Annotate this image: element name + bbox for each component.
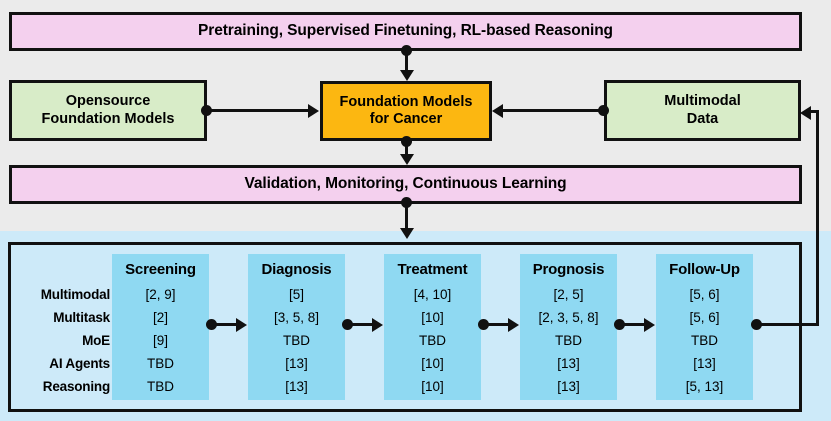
feedback-line-horizontal-upper [810,110,819,113]
cell-diagnosis-multitask: [3, 5, 8] [248,310,345,325]
row-label-ai-agents: AI Agents [0,356,110,371]
cell-prognosis-multitask: [2, 3, 5, 8] [514,310,623,325]
cell-followup-moe: TBD [656,333,753,348]
diagram-canvas: Pretraining, Supervised Finetuning, RL-b… [0,0,831,421]
connector-line-screening-to-diagnosis [212,323,238,326]
core-label-line2: for Cancer [340,111,473,128]
cell-screening-moe: [9] [112,333,209,348]
multimodal-data-box: Multimodal Data [604,80,801,141]
connector-line-rightsource-to-core [502,109,602,112]
multimodal-label-line2: Data [664,111,741,128]
opensource-label-line1: Opensource [42,93,175,110]
column-header-screening: Screening [112,261,209,278]
feedback-line-horizontal-lower [757,323,819,326]
opensource-label-line2: Foundation Models [42,111,175,128]
row-label-moe: MoE [0,333,110,348]
cell-followup-ai-agents: [13] [656,356,753,371]
row-label-multimodal: Multimodal [0,287,110,302]
connector-line-prognosis-to-followup [620,323,646,326]
cell-prognosis-moe: TBD [520,333,617,348]
feedback-line-vertical [816,110,819,326]
column-header-followup: Follow-Up [656,261,753,278]
arrowhead-into-midband [400,154,414,165]
column-header-treatment: Treatment [384,261,481,278]
cell-screening-multitask: [2] [112,310,209,325]
connector-line-treatment-to-prognosis [484,323,510,326]
cell-followup-multimodal: [5, 6] [656,287,753,302]
cell-screening-ai-agents: TBD [112,356,209,371]
arrowhead-into-matrix [400,228,414,239]
row-label-multitask: Multitask [0,310,110,325]
cell-diagnosis-moe: TBD [248,333,345,348]
cell-diagnosis-ai-agents: [13] [248,356,345,371]
cell-diagnosis-reasoning: [13] [248,379,345,394]
cell-treatment-moe: TBD [384,333,481,348]
cell-treatment-reasoning: [10] [384,379,481,394]
opensource-foundation-models-box: Opensource Foundation Models [9,80,207,141]
column-header-prognosis: Prognosis [520,261,617,278]
connector-line-core-to-midband [405,141,408,155]
cell-treatment-multimodal: [4, 10] [384,287,481,302]
cell-prognosis-ai-agents: [13] [520,356,617,371]
cell-prognosis-reasoning: [13] [520,379,617,394]
cell-screening-reasoning: TBD [112,379,209,394]
cell-treatment-ai-agents: [10] [384,356,481,371]
cell-treatment-multitask: [10] [384,310,481,325]
core-label-line1: Foundation Models [340,94,473,111]
arrowhead-into-treatment [372,318,383,332]
arrowhead-into-followup [644,318,655,332]
row-label-reasoning: Reasoning [0,379,110,394]
arrowhead-into-diagnosis [236,318,247,332]
connector-line-leftsource-to-core [206,109,310,112]
arrowhead-into-core-left [308,104,319,118]
cell-followup-multitask: [5, 6] [656,310,753,325]
arrowhead-into-multimodal-data [800,106,811,120]
cell-followup-reasoning: [5, 13] [656,379,753,394]
cell-prognosis-multimodal: [2, 5] [520,287,617,302]
arrowhead-into-core-right [492,104,503,118]
arrowhead-into-prognosis [508,318,519,332]
multimodal-label-line1: Multimodal [664,93,741,110]
cell-screening-multimodal: [2, 9] [112,287,209,302]
cell-diagnosis-multimodal: [5] [248,287,345,302]
connector-line-diagnosis-to-treatment [348,323,374,326]
connector-line-topband-to-core [405,50,408,72]
column-header-diagnosis: Diagnosis [248,261,345,278]
connector-line-midband-to-matrix [405,203,408,229]
arrowhead-into-core-top [400,70,414,81]
foundation-models-for-cancer-box: Foundation Models for Cancer [320,81,492,141]
